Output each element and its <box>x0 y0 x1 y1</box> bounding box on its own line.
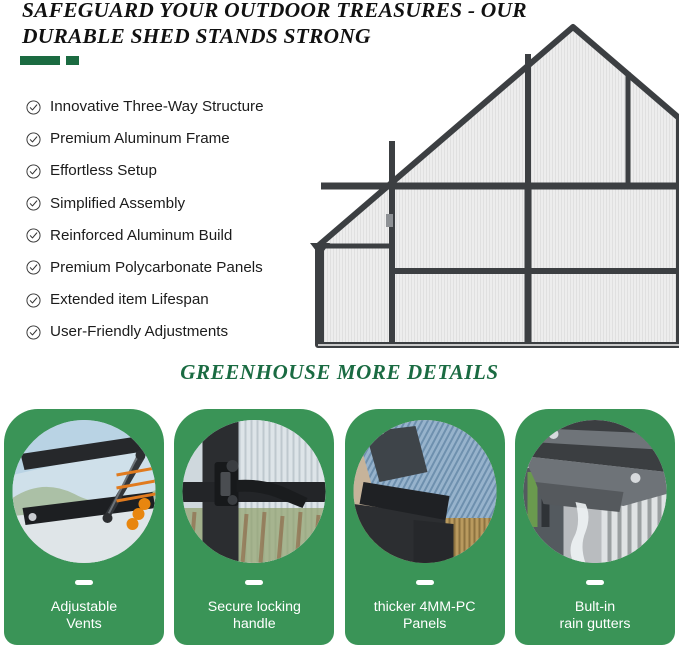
check-circle-icon <box>26 228 41 243</box>
feature-label: User-Friendly Adjustments <box>50 323 228 341</box>
feature-label: Simplified Assembly <box>50 195 185 213</box>
polycarbonate-panel-photo <box>353 420 496 563</box>
feature-item: Effortless Setup <box>26 156 326 186</box>
hero-section: SAFEGUARD YOUR OUTDOOR TREASURES - OUR D… <box>0 0 679 352</box>
detail-card-rain-gutters[interactable]: Bult-in rain gutters <box>515 409 675 645</box>
locking-door-handle-photo <box>183 420 326 563</box>
check-circle-icon <box>26 293 41 308</box>
details-section-heading: GREENHOUSE MORE DETAILS <box>0 360 679 385</box>
accent-dashes <box>20 56 79 65</box>
accent-dash-short <box>66 56 79 65</box>
feature-item: Innovative Three-Way Structure <box>26 92 326 122</box>
check-circle-icon <box>26 260 41 275</box>
feature-item: Premium Polycarbonate Panels <box>26 253 326 283</box>
feature-label: Effortless Setup <box>50 162 157 180</box>
accent-dash-long <box>20 56 60 65</box>
feature-item: Premium Aluminum Frame <box>26 124 326 154</box>
detail-card-label: Bult-in rain gutters <box>515 599 675 633</box>
check-circle-icon <box>26 196 41 211</box>
adjustable-roof-vent-photo <box>13 420 156 563</box>
feature-list: Innovative Three-Way Structure Premium A… <box>26 92 326 350</box>
feature-label: Premium Aluminum Frame <box>50 130 230 148</box>
feature-label: Premium Polycarbonate Panels <box>50 259 263 277</box>
detail-card-thicker-pc-panels[interactable]: thicker 4MM-PC Panels <box>345 409 505 645</box>
check-circle-icon <box>26 164 41 179</box>
feature-item: Extended item Lifespan <box>26 285 326 315</box>
check-circle-icon <box>26 100 41 115</box>
check-circle-icon <box>26 325 41 340</box>
feature-item: User-Friendly Adjustments <box>26 317 326 347</box>
detail-card-label: Secure locking handle <box>174 599 334 633</box>
detail-card-label: Adjustable Vents <box>4 599 164 633</box>
detail-card-secure-locking-handle[interactable]: Secure locking handle <box>174 409 334 645</box>
card-divider <box>586 580 604 585</box>
feature-label: Innovative Three-Way Structure <box>50 98 264 116</box>
detail-card-label: thicker 4MM-PC Panels <box>345 599 505 633</box>
card-divider <box>416 580 434 585</box>
rain-gutter-photo <box>523 420 666 563</box>
feature-label: Extended item Lifespan <box>50 291 209 309</box>
feature-item: Simplified Assembly <box>26 189 326 219</box>
detail-cards-row: Adjustable Vents <box>0 409 679 647</box>
card-divider <box>245 580 263 585</box>
greenhouse-shed-illustration <box>300 10 679 355</box>
check-circle-icon <box>26 132 41 147</box>
feature-item: Reinforced Aluminum Build <box>26 221 326 251</box>
card-divider <box>75 580 93 585</box>
feature-label: Reinforced Aluminum Build <box>50 227 232 245</box>
detail-card-adjustable-vents[interactable]: Adjustable Vents <box>4 409 164 645</box>
